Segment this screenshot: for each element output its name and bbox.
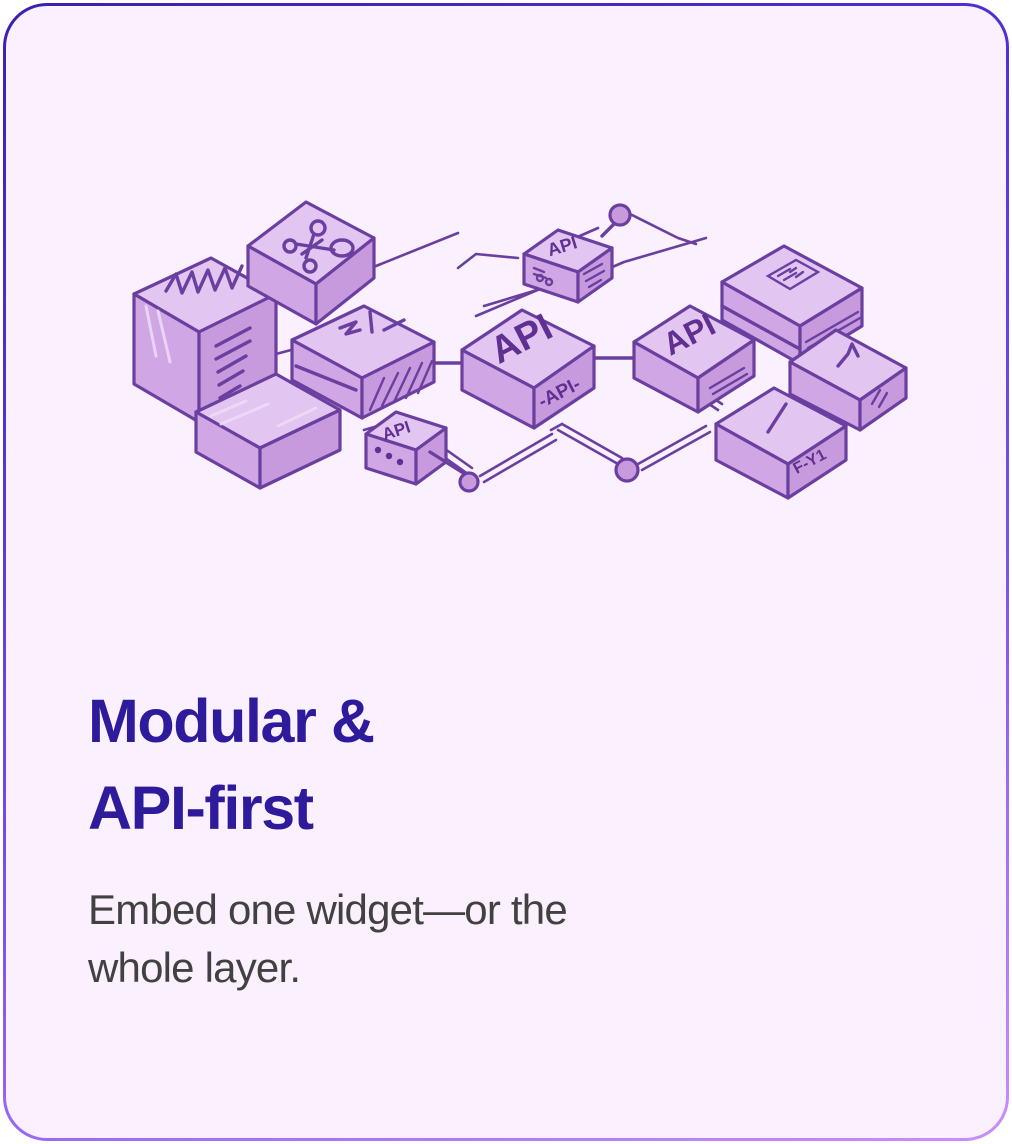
card-text-block: Modular & API-first Embed one widget—or … bbox=[88, 678, 878, 997]
connector-node-bottom-left bbox=[460, 473, 478, 491]
box-api-cube-small: API bbox=[366, 412, 478, 491]
feature-card-wrapper: .bx-top { fill:#e2c5f0; stroke:#6b3fa0; … bbox=[0, 0, 1012, 1144]
modular-api-illustration: .bx-top { fill:#e2c5f0; stroke:#6b3fa0; … bbox=[6, 6, 1009, 596]
card-heading: Modular & API-first bbox=[88, 678, 878, 851]
box-api-main: API -API- bbox=[462, 306, 594, 428]
connector-node-bottom-right bbox=[616, 459, 638, 481]
feature-card[interactable]: .bx-top { fill:#e2c5f0; stroke:#6b3fa0; … bbox=[3, 3, 1009, 1141]
connector-node-top bbox=[610, 205, 630, 225]
card-body-text: Embed one widget—or the whole layer. bbox=[88, 851, 878, 997]
box-api-cube-top: API bbox=[524, 205, 630, 302]
